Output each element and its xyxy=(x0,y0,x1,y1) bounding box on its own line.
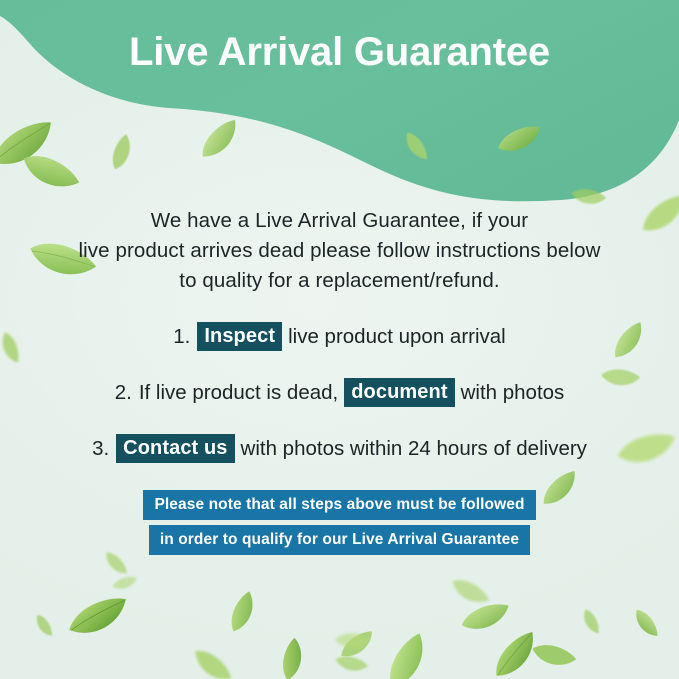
step-chip-contact-us[interactable]: Contact us xyxy=(116,434,234,463)
step-item-3: 3. Contact us with photos within 24 hour… xyxy=(92,434,587,463)
intro-line-1: We have a Live Arrival Guarantee, if you… xyxy=(40,206,640,236)
step-text-after: live product upon arrival xyxy=(288,325,506,349)
step-item-2: 2. If live product is dead, document wit… xyxy=(115,378,565,407)
step-number: 3. xyxy=(92,437,109,461)
step-text-after: with photos xyxy=(461,381,565,405)
intro-line-2: live product arrives dead please follow … xyxy=(40,236,640,266)
live-arrival-guarantee-infographic: Live Arrival Guarantee xyxy=(0,0,679,679)
content-column: We have a Live Arrival Guarantee, if you… xyxy=(0,0,679,679)
step-item-1: 1. Inspect live product upon arrival xyxy=(173,322,506,351)
step-number: 1. xyxy=(173,325,190,349)
step-text-after: with photos within 24 hours of delivery xyxy=(241,437,587,461)
step-chip-inspect[interactable]: Inspect xyxy=(197,322,282,351)
intro-line-3: to quality for a replacement/refund. xyxy=(40,266,640,296)
note-banner-group: Please note that all steps above must be… xyxy=(143,490,535,555)
step-number: 2. xyxy=(115,381,132,405)
step-text-before: If live product is dead, xyxy=(139,381,338,405)
note-banner-line-2: in order to qualify for our Live Arrival… xyxy=(149,525,530,555)
note-banner-line-1: Please note that all steps above must be… xyxy=(143,490,535,520)
intro-paragraph: We have a Live Arrival Guarantee, if you… xyxy=(40,206,640,296)
steps-list: 1. Inspect live product upon arrival 2. … xyxy=(0,322,679,490)
step-chip-document[interactable]: document xyxy=(344,378,454,407)
